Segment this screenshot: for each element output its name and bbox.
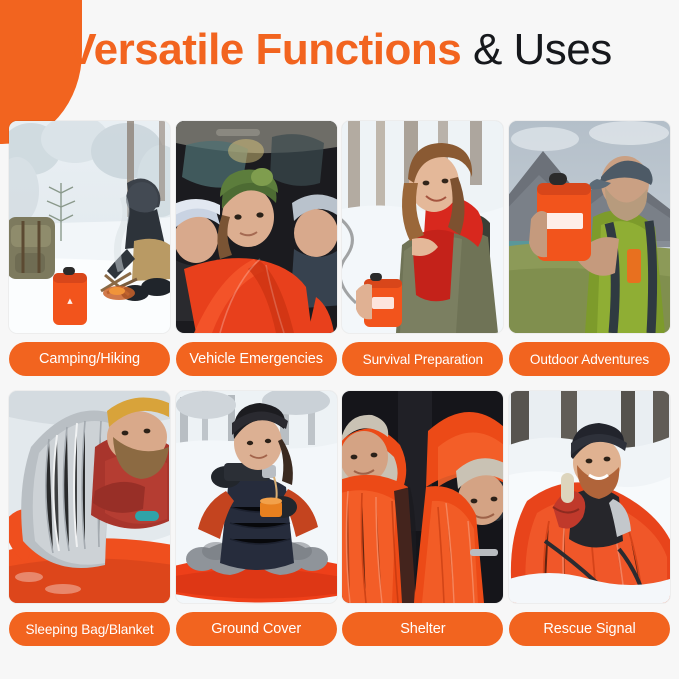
photo-shelter (342, 391, 503, 603)
feature-grid: ▲ Camping/Hiking (9, 121, 670, 646)
feature-label-camping-hiking[interactable]: Camping/Hiking (9, 342, 170, 376)
feature-label-rescue-signal[interactable]: Rescue Signal (509, 612, 670, 646)
feature-cell-vehicle-emergencies: Vehicle Emergencies (176, 121, 337, 376)
page-title: Versatile Functions & Uses (0, 22, 679, 78)
feature-cell-survival-preparation: Survival Preparation (342, 121, 503, 376)
feature-cell-outdoor-adventures: Outdoor Adventures (509, 121, 670, 376)
feature-row-2: Sleeping Bag/Blanket (9, 391, 670, 646)
feature-label-outdoor-adventures[interactable]: Outdoor Adventures (509, 342, 670, 376)
feature-label-ground-cover[interactable]: Ground Cover (176, 612, 337, 646)
feature-label-shelter[interactable]: Shelter (342, 612, 503, 646)
feature-label-sleeping-bag-blanket[interactable]: Sleeping Bag/Blanket (9, 612, 170, 646)
feature-cell-shelter: Shelter (342, 391, 503, 646)
svg-text:▲: ▲ (67, 297, 73, 305)
photo-vehicle-emergencies (176, 121, 337, 333)
feature-row-1: ▲ Camping/Hiking (9, 121, 670, 376)
page-title-plain: & Uses (473, 25, 612, 74)
photo-ground-cover (176, 391, 337, 603)
feature-label-survival-preparation[interactable]: Survival Preparation (342, 342, 503, 376)
photo-camping-hiking: ▲ (9, 121, 170, 333)
photo-survival-preparation (342, 121, 503, 333)
feature-cell-camping-hiking: ▲ Camping/Hiking (9, 121, 170, 376)
feature-cell-rescue-signal: Rescue Signal (509, 391, 670, 646)
page-root: Versatile Functions & Uses (0, 0, 679, 679)
photo-sleeping-bag-blanket (9, 391, 170, 603)
feature-cell-sleeping-bag-blanket: Sleeping Bag/Blanket (9, 391, 170, 646)
photo-rescue-signal (509, 391, 670, 603)
page-title-accent: Versatile Functions (67, 25, 461, 74)
feature-cell-ground-cover: Ground Cover (176, 391, 337, 646)
photo-outdoor-adventures (509, 121, 670, 333)
feature-label-vehicle-emergencies[interactable]: Vehicle Emergencies (176, 342, 337, 376)
